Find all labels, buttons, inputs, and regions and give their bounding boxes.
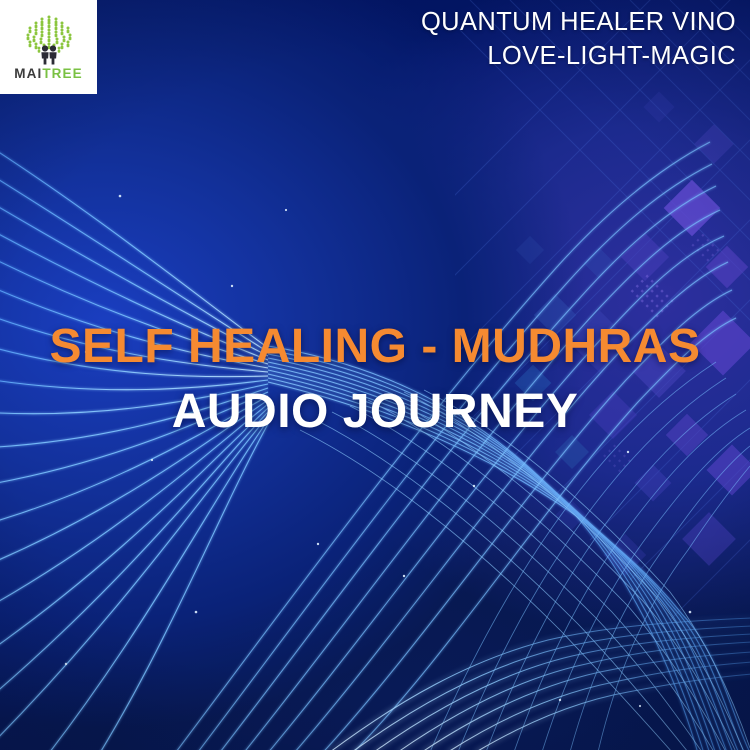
brand-text-block: QUANTUM HEALER VINO LOVE-LIGHT-MAGIC (421, 6, 736, 73)
logo-wordmark-part1: MAI (14, 66, 42, 81)
brand-line-1: QUANTUM HEALER VINO (421, 6, 736, 40)
brand-line-2: LOVE-LIGHT-MAGIC (421, 40, 736, 74)
poster-canvas: MAITREE QUANTUM HEALER VINO LOVE-LIGHT-M… (0, 0, 750, 750)
title-block: SELF HEALING - MUDHRAS AUDIO JOURNEY (0, 322, 750, 438)
logo-wordmark: MAITREE (14, 67, 82, 81)
page-subtitle: AUDIO JOURNEY (0, 387, 750, 438)
page-title: SELF HEALING - MUDHRAS (0, 322, 750, 373)
maitree-people-tree-logo-icon (18, 13, 80, 65)
logo-wordmark-part2: TREE (42, 66, 82, 81)
brand-logo[interactable]: MAITREE (0, 0, 97, 94)
